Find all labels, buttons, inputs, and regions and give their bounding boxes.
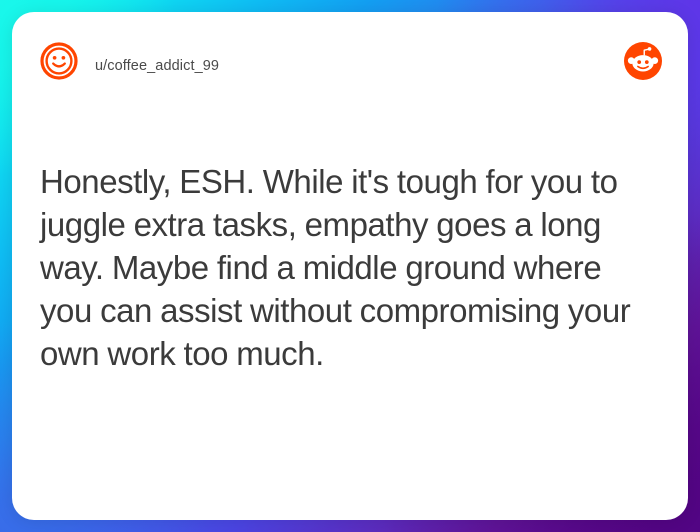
screenshot-root: u/coffee_addict_99 Honestly, ESH. While … xyxy=(0,0,700,532)
comment-text: Honestly, ESH. While it's tough for you … xyxy=(40,160,660,375)
smiley-face-icon[interactable] xyxy=(39,41,79,81)
username-label: u/coffee_addict_99 xyxy=(95,56,219,76)
reddit-snoo-icon[interactable] xyxy=(624,42,662,80)
card-header: u/coffee_addict_99 xyxy=(12,12,688,98)
comment-card: u/coffee_addict_99 Honestly, ESH. While … xyxy=(12,12,688,520)
